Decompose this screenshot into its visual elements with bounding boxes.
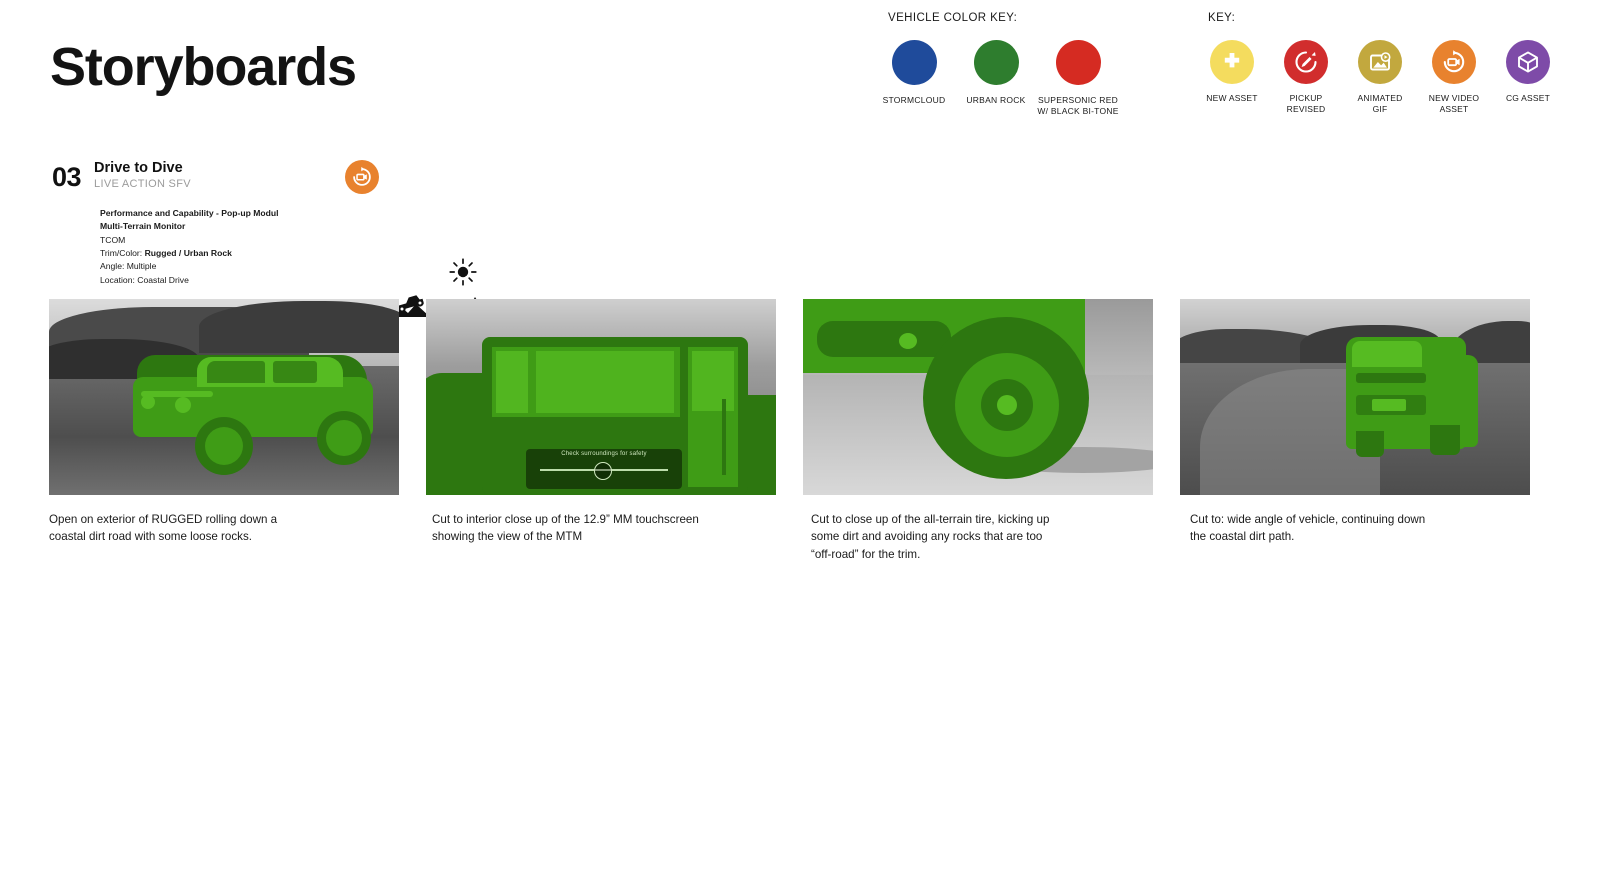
trim-color-label: Trim/Color: — [100, 248, 142, 258]
swatch-dot — [974, 40, 1019, 85]
swatch-label: STORMCLOUD — [871, 95, 957, 106]
storyboard-frame-4: Cut to: wide angle of vehicle, continuin… — [1180, 299, 1530, 563]
frame-caption: Open on exterior of RUGGED rolling down … — [49, 511, 399, 546]
pencil-refresh-icon — [1284, 40, 1328, 84]
page-title: Storyboards — [50, 36, 356, 98]
frame-image-tire-closeup[interactable] — [803, 299, 1153, 495]
scene-meta-line-2: Multi-Terrain Monitor — [100, 220, 392, 233]
asset-key-item-animated-gif: ANIMATED GIF — [1356, 40, 1404, 116]
storyboard-frames: Open on exterior of RUGGED rolling down … — [49, 299, 1530, 563]
asset-key-label: CG ASSET — [1491, 93, 1565, 104]
scene-number: 03 — [52, 164, 81, 191]
sun-icon — [448, 257, 478, 291]
frame-caption: Cut to: wide angle of vehicle, continuin… — [1190, 511, 1530, 546]
scene-header: 03 Drive to Dive LIVE ACTION SFV Perform… — [52, 160, 392, 287]
swatch-dot — [1056, 40, 1101, 85]
vehicle-color-key-heading: VEHICLE COLOR KEY: — [888, 12, 1104, 24]
swatch-label: URBAN ROCK — [953, 95, 1039, 106]
frame-caption: Cut to interior close up of the 12.9” MM… — [432, 511, 776, 546]
plus-icon — [1210, 40, 1254, 84]
scene-meta-angle: Angle: Multiple — [100, 260, 392, 273]
frame-image-wide-angle-rear[interactable] — [1180, 299, 1530, 495]
asset-key-label: PICKUP REVISED — [1269, 93, 1343, 116]
vehicle-swatch-urban-rock: URBAN ROCK — [970, 40, 1022, 117]
asset-key-label: ANIMATED GIF — [1343, 93, 1417, 116]
image-play-icon — [1358, 40, 1402, 84]
scene-meta-location: Location: Coastal Drive — [100, 274, 392, 287]
video-refresh-icon — [1432, 40, 1476, 84]
trim-color-value: Rugged / Urban Rock — [145, 248, 232, 258]
scene-subtitle: LIVE ACTION SFV — [94, 178, 191, 190]
scene-meta-trim-color: Trim/Color: Rugged / Urban Rock — [100, 247, 392, 260]
asset-key-label: NEW ASSET — [1195, 93, 1269, 104]
scene-meta-line-3: TCOM — [100, 234, 392, 247]
storyboard-page: Storyboards VEHICLE COLOR KEY: STORMCLOU… — [0, 0, 1600, 872]
asset-key-heading: KEY: — [1208, 12, 1552, 24]
cube-icon — [1506, 40, 1550, 84]
asset-key-label: NEW VIDEO ASSET — [1417, 93, 1491, 116]
scene-asset-badge-video-refresh-icon[interactable] — [345, 160, 379, 194]
scene-metadata: Performance and Capability - Pop-up Modu… — [100, 207, 392, 287]
asset-key-item-new-video-asset: NEW VIDEO ASSET — [1430, 40, 1478, 116]
swatch-label: SUPERSONIC RED W/ BLACK BI-TONE — [1035, 95, 1121, 117]
swatch-dot — [892, 40, 937, 85]
storyboard-frame-3: Cut to close up of the all-terrain tire,… — [803, 299, 1153, 563]
asset-key-item-pickup-revised: PICKUP REVISED — [1282, 40, 1330, 116]
vehicle-swatch-stormcloud: STORMCLOUD — [888, 40, 940, 117]
frame-caption: Cut to close up of the all-terrain tire,… — [811, 511, 1153, 563]
scene-meta-line-1: Performance and Capability - Pop-up Modu… — [100, 207, 392, 220]
vehicle-color-key: VEHICLE COLOR KEY: STORMCLOUD URBAN ROCK… — [888, 12, 1104, 117]
frame-image-exterior-suv[interactable] — [49, 299, 399, 495]
touchscreen-message: Check surroundings for safety — [526, 451, 682, 457]
asset-key-item-cg-asset: CG ASSET — [1504, 40, 1552, 116]
scene-name: Drive to Dive — [94, 160, 191, 177]
asset-key-item-new-asset: NEW ASSET — [1208, 40, 1256, 116]
frame-image-interior-touchscreen[interactable]: Check surroundings for safety — [426, 299, 776, 495]
vehicle-swatch-supersonic-red: SUPERSONIC RED W/ BLACK BI-TONE — [1052, 40, 1104, 117]
storyboard-frame-1: Open on exterior of RUGGED rolling down … — [49, 299, 399, 563]
asset-key: KEY: NEW ASSET PICKUP RE — [1208, 12, 1552, 116]
storyboard-frame-2: Check surroundings for safety Cut to int… — [426, 299, 776, 563]
